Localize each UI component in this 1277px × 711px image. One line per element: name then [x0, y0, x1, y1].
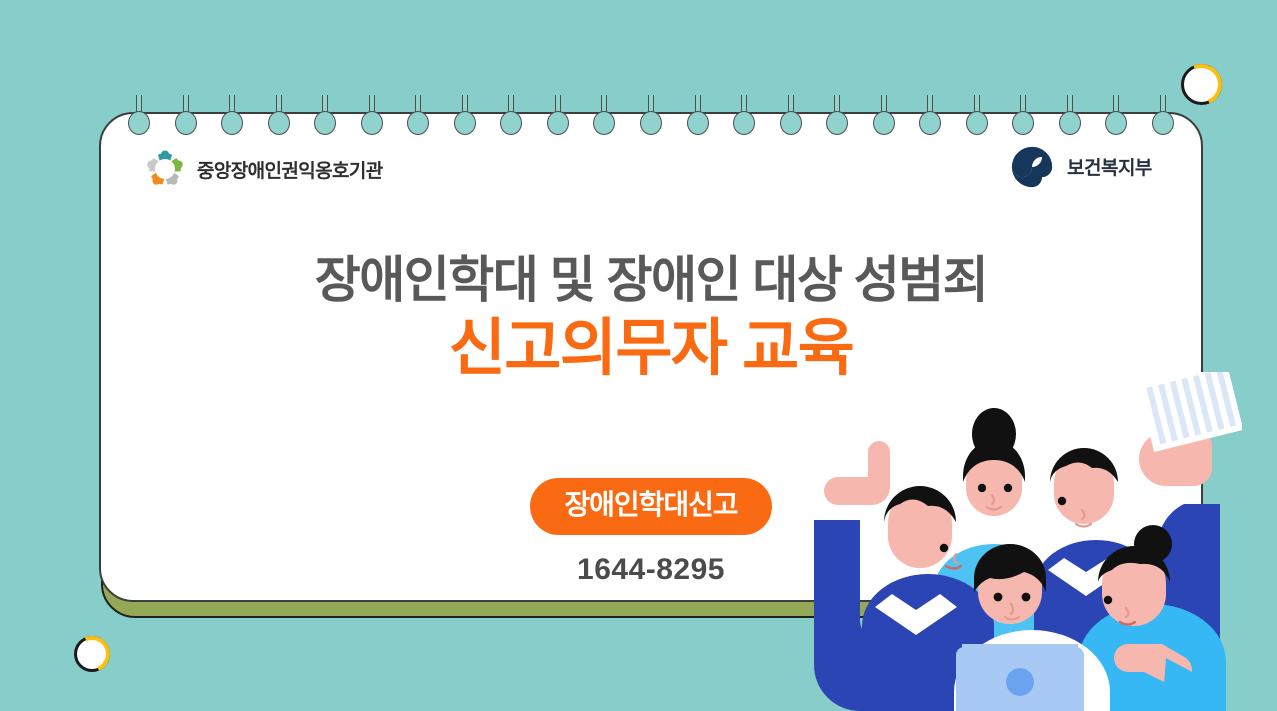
report-abuse-button[interactable]: 장애인학대신고 [530, 478, 771, 535]
ministry-logo-label: 보건복지부 [1067, 153, 1152, 180]
ministry-logo: 보건복지부 [1008, 143, 1152, 189]
decorative-circle-top-right [1181, 64, 1222, 105]
decorative-circle-bottom-left [74, 636, 110, 672]
report-block: 장애인학대신고 1644-8295 [99, 478, 1203, 587]
org-logo: 중앙장애인권익옹호기관 [143, 147, 383, 191]
report-phone-number: 1644-8295 [99, 553, 1203, 587]
people-circle-logo-icon [143, 147, 187, 191]
poster-canvas: 중앙장애인권익옹호기관 보건복지부 장애인학대 및 장애인 대상 성범죄 신고의… [0, 0, 1277, 711]
korea-government-taegeuk-icon [1008, 143, 1056, 189]
org-logo-label: 중앙장애인권익옹호기관 [197, 156, 383, 183]
